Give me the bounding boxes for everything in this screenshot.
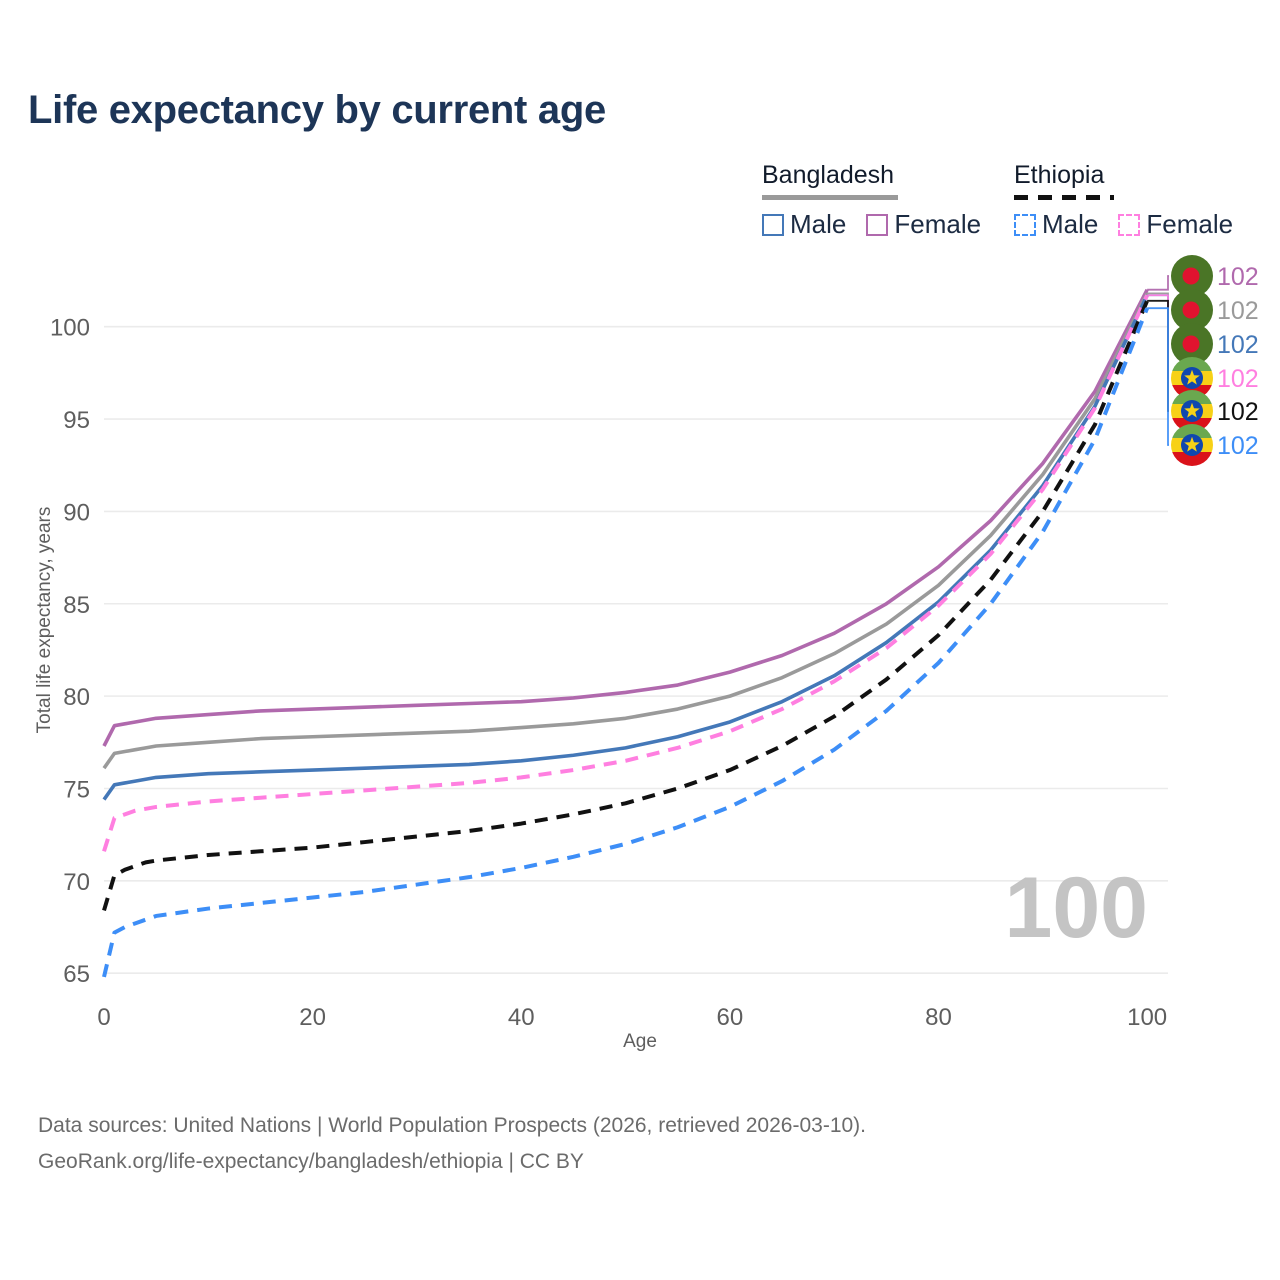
chart-legend: Bangladesh Male Female Ethiopia Male <box>762 160 1262 245</box>
end-labels: 102102102102102102 <box>1171 255 1259 466</box>
footer-line-url[interactable]: GeoRank.org/life-expectancy/bangladesh/e… <box>38 1144 866 1180</box>
end-label-value: 102 <box>1217 331 1259 359</box>
watermark: 100 <box>1005 860 1149 956</box>
end-label-connector <box>1147 308 1169 445</box>
legend-country-rule <box>762 195 898 200</box>
series-line-ethiopia-female <box>104 295 1147 851</box>
footer-line-sources: Data sources: United Nations | World Pop… <box>38 1108 866 1144</box>
series-line-bangladesh-female <box>104 290 1147 746</box>
chart-page: Life expectancy by current age Banglades… <box>0 0 1280 1280</box>
legend-country-name: Bangladesh <box>762 160 981 193</box>
series-line-bangladesh-total <box>104 293 1147 768</box>
end-label-value: 102 <box>1217 297 1259 325</box>
x-tick-label: 80 <box>925 1004 952 1031</box>
series-line-bangladesh-male <box>104 295 1147 799</box>
x-tick-label: 40 <box>508 1004 535 1031</box>
end-label-connector <box>1147 295 1169 344</box>
legend-group-ethiopia: Ethiopia Male Female <box>1014 160 1233 240</box>
end-label-connector <box>1147 295 1169 378</box>
end-label-flag-bangladesh <box>1171 323 1213 365</box>
legend-swatch-icon <box>1014 214 1036 236</box>
y-axis-ticks: 65707580859095100 <box>50 315 90 989</box>
x-tick-label: 20 <box>299 1004 326 1031</box>
legend-item-ethiopia-male[interactable]: Male <box>1014 209 1098 240</box>
end-label-flag-ethiopia <box>1171 357 1213 399</box>
y-tick-label: 90 <box>63 499 90 526</box>
legend-swatch-icon <box>762 214 784 236</box>
x-tick-label: 100 <box>1127 1004 1167 1031</box>
footer-credits: Data sources: United Nations | World Pop… <box>38 1108 866 1180</box>
end-label-value: 102 <box>1217 365 1259 393</box>
y-tick-label: 75 <box>63 776 90 803</box>
y-tick-label: 95 <box>63 407 90 434</box>
end-label-flag-ethiopia <box>1171 424 1213 466</box>
page-title: Life expectancy by current age <box>28 88 606 133</box>
legend-swatch-icon <box>1118 214 1140 236</box>
end-label-connectors <box>1147 276 1169 445</box>
end-label-flag-bangladesh <box>1171 255 1213 297</box>
x-axis-label: Age <box>623 1031 657 1052</box>
y-tick-label: 65 <box>63 961 90 988</box>
x-tick-label: 60 <box>717 1004 744 1031</box>
y-tick-label: 80 <box>63 684 90 711</box>
legend-item-label: Male <box>790 209 846 240</box>
series-lines <box>104 290 1147 977</box>
series-line-ethiopia-total <box>104 301 1147 911</box>
end-label-value: 102 <box>1217 398 1259 426</box>
x-tick-label: 0 <box>97 1004 110 1031</box>
y-tick-label: 85 <box>63 592 90 619</box>
legend-item-bangladesh-male[interactable]: Male <box>762 209 846 240</box>
y-tick-label: 70 <box>63 869 90 896</box>
end-label-connector <box>1147 276 1169 290</box>
series-line-ethiopia-male <box>104 308 1147 977</box>
legend-country-name: Ethiopia <box>1014 160 1233 193</box>
x-axis-ticks: 020406080100 <box>97 1004 1167 1031</box>
end-label-value: 102 <box>1217 263 1259 291</box>
end-label-connector <box>1147 301 1169 411</box>
legend-item-ethiopia-female[interactable]: Female <box>1118 209 1233 240</box>
end-label-connector <box>1147 293 1169 310</box>
y-axis-label: Total life expectancy, years <box>34 507 55 734</box>
legend-item-bangladesh-female[interactable]: Female <box>866 209 981 240</box>
end-label-flag-bangladesh <box>1171 289 1213 331</box>
legend-item-label: Male <box>1042 209 1098 240</box>
legend-item-label: Female <box>894 209 981 240</box>
legend-group-bangladesh: Bangladesh Male Female <box>762 160 981 240</box>
gridlines <box>104 327 1168 974</box>
end-label-flag-ethiopia <box>1171 390 1213 432</box>
legend-swatch-icon <box>866 214 888 236</box>
legend-item-label: Female <box>1146 209 1233 240</box>
legend-country-rule <box>1014 195 1114 200</box>
end-label-value: 102 <box>1217 432 1259 460</box>
y-tick-label: 100 <box>50 315 90 342</box>
